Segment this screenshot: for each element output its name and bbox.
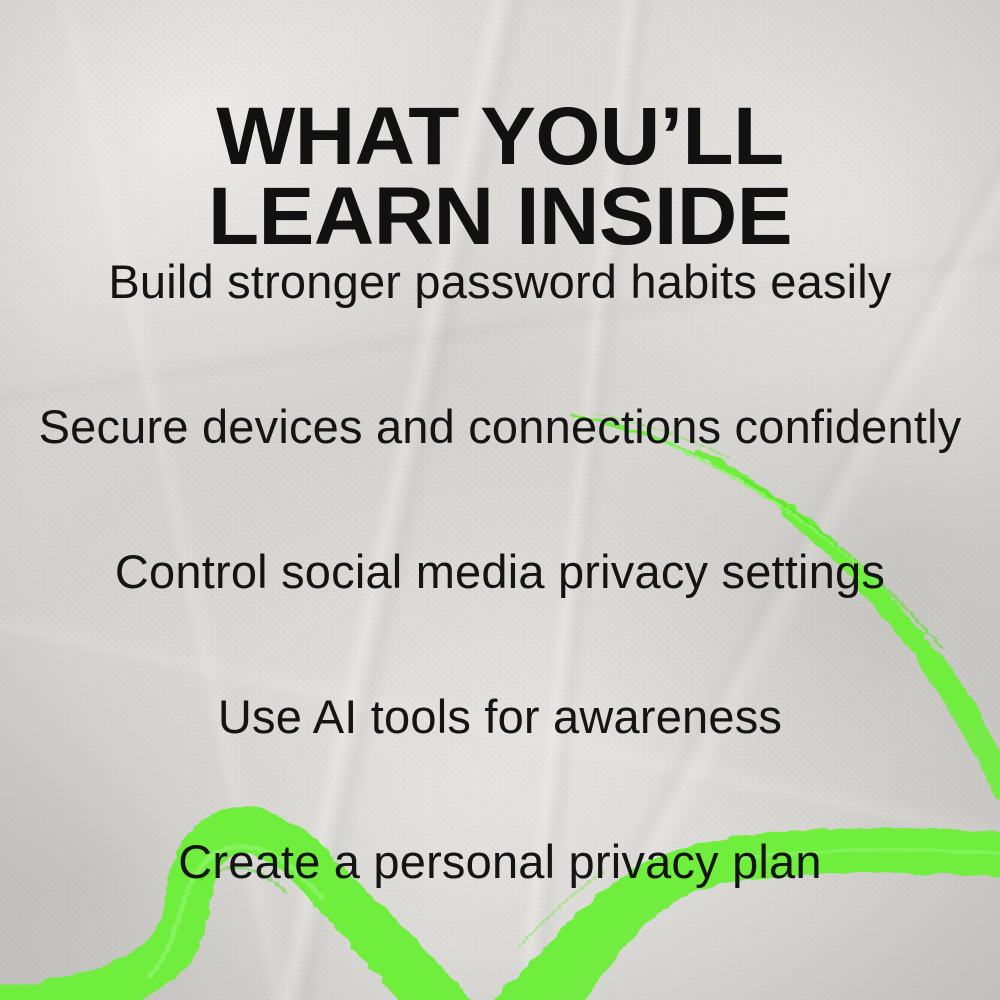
learning-points-list: Build stronger password habits easily Se… bbox=[0, 258, 1000, 983]
list-item: Secure devices and connections confident… bbox=[0, 403, 1000, 548]
list-item-label: Control social media privacy settings bbox=[115, 548, 885, 595]
list-item-label: Use AI tools for awareness bbox=[218, 693, 782, 740]
page-title: WHAT YOU’LL LEARN INSIDE bbox=[0, 97, 1000, 258]
list-item: Control social media privacy settings bbox=[0, 548, 1000, 693]
list-item-label: Build stronger password habits easily bbox=[108, 258, 891, 305]
poster-content: WHAT YOU’LL LEARN INSIDE Build stronger … bbox=[0, 0, 1000, 1000]
list-item-label: Secure devices and connections confident… bbox=[39, 403, 962, 450]
page-title-line-2: LEARN INSIDE bbox=[0, 177, 1000, 257]
list-item: Build stronger password habits easily bbox=[0, 258, 1000, 403]
list-item: Use AI tools for awareness bbox=[0, 693, 1000, 838]
list-item-label: Create a personal privacy plan bbox=[178, 838, 821, 885]
list-item: Create a personal privacy plan bbox=[0, 838, 1000, 983]
page-title-line-1: WHAT YOU’LL bbox=[0, 97, 1000, 177]
poster-canvas: WHAT YOU’LL LEARN INSIDE Build stronger … bbox=[0, 0, 1000, 1000]
